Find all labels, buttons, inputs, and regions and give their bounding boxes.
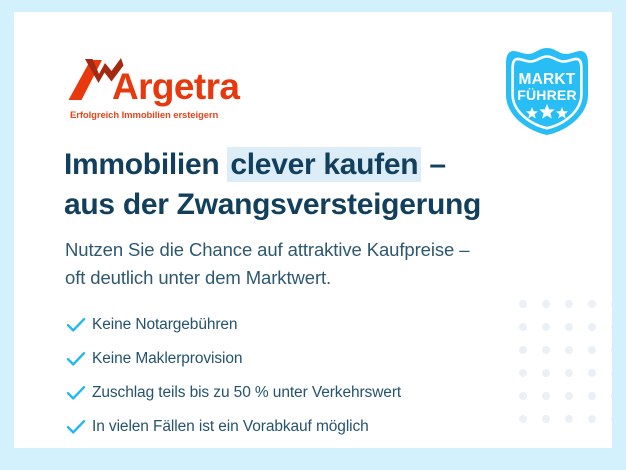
headline-text-post: – — [421, 148, 445, 181]
badge-line2: FÜHRER — [517, 87, 577, 103]
decorative-dot — [565, 323, 573, 331]
decorative-dot — [542, 369, 550, 377]
decorative-dot — [565, 415, 573, 423]
headline-text-pre: Immobilien — [64, 148, 227, 181]
list-item: Keine Maklerprovision — [66, 345, 536, 373]
check-icon — [66, 317, 92, 333]
headline-highlight: clever kaufen — [227, 147, 421, 182]
decorative-dot — [588, 300, 596, 308]
decorative-dot — [611, 300, 612, 308]
subtitle-line-1: Nutzen Sie die Chance auf attraktive Kau… — [65, 236, 585, 264]
list-item: Zuschlag teils bis zu 50 % unter Verkehr… — [66, 379, 536, 407]
logo-tagline: Erfolgreich Immobilien ersteigern — [70, 110, 218, 121]
decorative-dot — [588, 415, 596, 423]
decorative-dot — [611, 392, 612, 400]
decorative-dot — [542, 392, 550, 400]
list-item: In vielen Fällen ist ein Vorabkauf mögli… — [66, 413, 536, 441]
promo-card: Argetra Erfolgreich Immobilien ersteiger… — [14, 12, 612, 448]
decorative-dot — [542, 346, 550, 354]
market-leader-badge: MARKT FÜHRER — [501, 45, 593, 137]
decorative-dot — [611, 346, 612, 354]
decorative-dot — [519, 300, 527, 308]
list-item: Keine Notargebühren — [66, 311, 536, 339]
subtitle-line-2: oft deutlich unter dem Marktwert. — [65, 264, 585, 292]
decorative-dot — [565, 369, 573, 377]
check-icon — [66, 351, 92, 367]
decorative-dot — [611, 369, 612, 377]
promo-banner: Argetra Erfolgreich Immobilien ersteiger… — [0, 0, 626, 470]
decorative-dot — [542, 300, 550, 308]
list-item-label: Zuschlag teils bis zu 50 % unter Verkehr… — [92, 384, 401, 402]
argetra-logo[interactable]: Argetra Erfolgreich Immobilien ersteiger… — [68, 56, 268, 124]
benefits-list: Keine Notargebühren Keine Maklerprovisio… — [66, 311, 536, 447]
badge-line1: MARKT — [519, 71, 576, 88]
decorative-dot — [588, 323, 596, 331]
decorative-dot — [588, 369, 596, 377]
check-icon — [66, 419, 92, 435]
subtitle: Nutzen Sie die Chance auf attraktive Kau… — [65, 236, 585, 292]
list-item-label: In vielen Fällen ist ein Vorabkauf mögli… — [92, 418, 369, 436]
headline-line-1: Immobilien clever kaufen – — [64, 145, 584, 185]
list-item-label: Keine Maklerprovision — [92, 350, 242, 368]
headline-line-2: aus der Zwangsversteigerung — [64, 185, 584, 225]
logo-wordmark: Argetra — [112, 68, 239, 105]
decorative-dot — [588, 346, 596, 354]
decorative-dot — [565, 300, 573, 308]
decorative-dot — [588, 392, 596, 400]
decorative-dot — [542, 415, 550, 423]
decorative-dot — [611, 415, 612, 423]
check-icon — [66, 385, 92, 401]
decorative-dot — [565, 346, 573, 354]
decorative-dot — [611, 323, 612, 331]
decorative-dot — [565, 392, 573, 400]
page-title: Immobilien clever kaufen – aus der Zwang… — [64, 145, 584, 224]
decorative-dot — [542, 323, 550, 331]
list-item-label: Keine Notargebühren — [92, 316, 237, 334]
